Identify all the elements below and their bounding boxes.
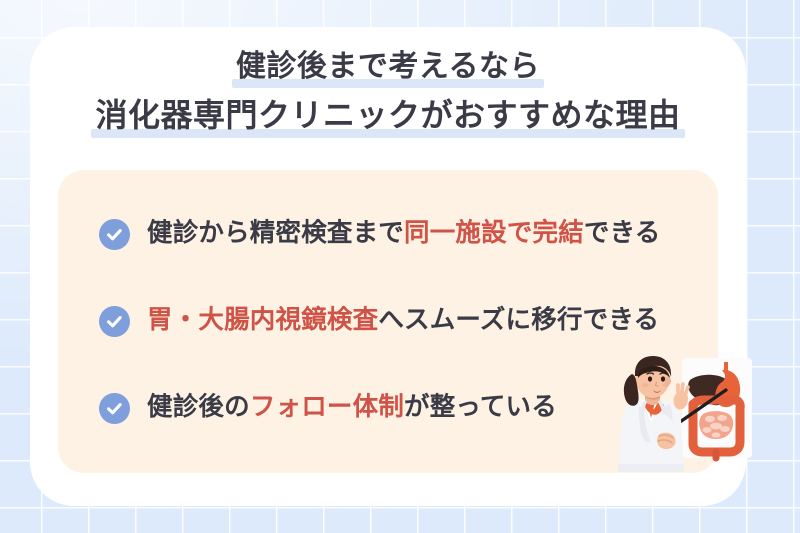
check-circle-icon: [99, 306, 130, 337]
check-circle-icon: [99, 393, 130, 424]
segment-plain: 健診から精密検査まで: [147, 219, 404, 247]
list-item: 胃・大腸内視鏡検査へスムーズに移行できる: [99, 299, 719, 343]
title-line-1-text: 健診後まで考えるなら: [236, 50, 540, 83]
page-title: 健診後まで考えるなら 消化器専門クリニックがおすすめな理由: [30, 44, 746, 140]
list-item-label: 健診から精密検査まで同一施設で完結できる: [147, 221, 661, 247]
list-item-label: 胃・大腸内視鏡検査へスムーズに移行できる: [147, 308, 659, 334]
title-line-2: 消化器専門クリニックがおすすめな理由: [95, 90, 680, 140]
segment-plain: 健診後の: [147, 393, 250, 421]
infographic-page: 健診後まで考えるなら 消化器専門クリニックがおすすめな理由 健診から精密検査まで…: [0, 0, 800, 533]
segment-emphasis: フォロー体制: [250, 393, 404, 421]
segment-plain: できる: [584, 219, 661, 247]
check-circle-icon: [99, 219, 130, 250]
segment-emphasis: 同一施設で完結: [404, 219, 584, 247]
title-line-2-text: 消化器専門クリニックがおすすめな理由: [95, 97, 680, 133]
segment-plain: が整っている: [404, 393, 557, 421]
list-item-label: 健診後のフォロー体制が整っている: [147, 395, 557, 421]
doctor-illustration: [598, 352, 760, 476]
segment-emphasis: 胃・大腸内視鏡検査: [147, 306, 378, 334]
title-line-1: 健診後まで考えるなら: [236, 44, 540, 90]
segment-plain: へスムーズに移行できる: [378, 306, 659, 334]
list-item: 健診から精密検査まで同一施設で完結できる: [99, 212, 719, 256]
